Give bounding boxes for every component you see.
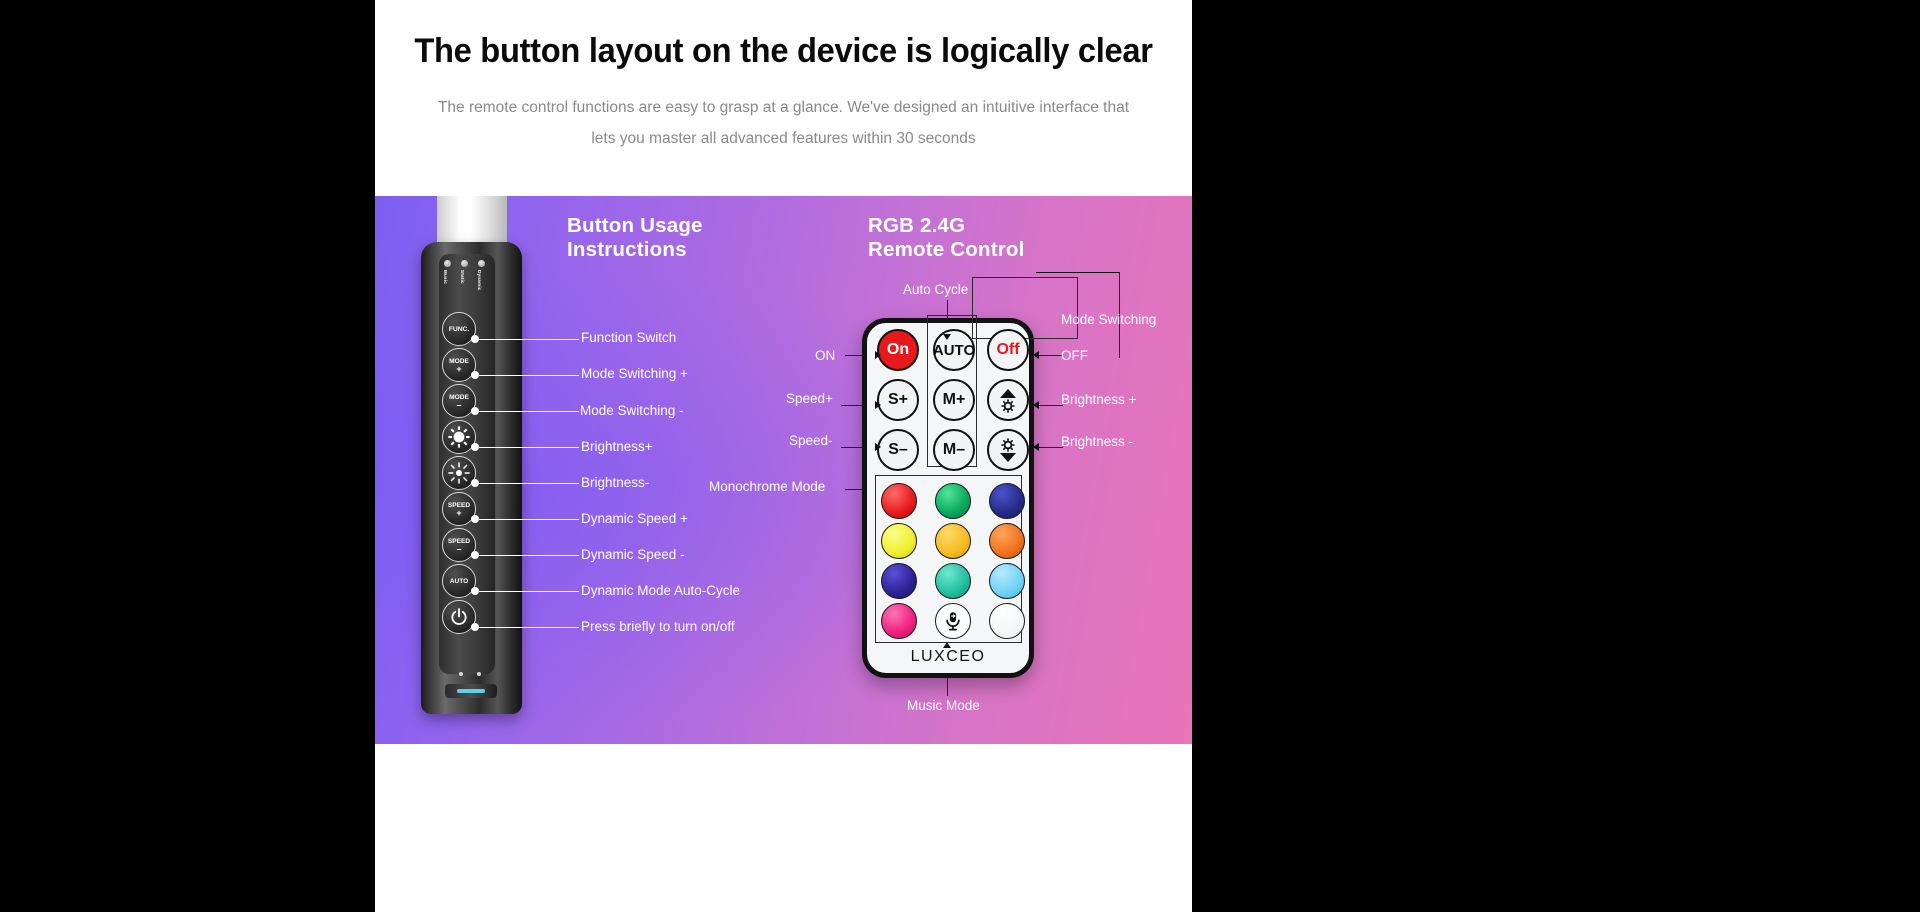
page-title: The button layout on the device is logic… xyxy=(391,32,1175,71)
callout-arrow-speed-up xyxy=(875,401,881,409)
page-subtitle: The remote control functions are easy to… xyxy=(435,92,1132,154)
brightness-down-icon xyxy=(993,435,1023,465)
color-button-red[interactable] xyxy=(881,483,917,519)
callout-label-mode-switching-remote: Mode Switching xyxy=(1061,312,1156,327)
callout-line-speed-up xyxy=(479,519,579,520)
color-button-cyan[interactable] xyxy=(989,563,1025,599)
right-heading-line2: Remote Control xyxy=(868,238,1025,262)
device-pin-left xyxy=(459,672,463,676)
color-button-blue[interactable] xyxy=(989,483,1025,519)
device-button-func-label: FUNC. xyxy=(449,326,469,333)
callout-line-mode-up xyxy=(479,375,579,376)
color-button-orange[interactable] xyxy=(989,523,1025,559)
color-button-yellow[interactable] xyxy=(881,523,917,559)
device-illustration: Music Static Dynamic FUNC. MODE + MODE – xyxy=(415,196,531,726)
callout-label-speed-down: Speed- xyxy=(789,433,833,448)
remote-face: On AUTO Off S+ M+ xyxy=(867,323,1029,673)
callout-label-dynamic-speed-up: Dynamic Speed + xyxy=(581,511,688,526)
color-button-indigo[interactable] xyxy=(881,563,917,599)
screenshot-root: The button layout on the device is logic… xyxy=(0,0,1920,912)
device-button-mode-up-sign: + xyxy=(456,365,461,373)
remote-button-on[interactable]: On xyxy=(877,329,919,371)
remote-button-speed-down[interactable]: S– xyxy=(877,429,919,471)
callout-line-brightness-down xyxy=(479,483,579,484)
callout-label-brightness-down-remote: Brightness - xyxy=(1061,434,1133,449)
callout-dot-mode-up xyxy=(471,371,479,379)
callout-line-power xyxy=(479,627,579,628)
callout-dot-speed-down xyxy=(471,551,479,559)
callout-line-mode-switching-top xyxy=(1036,272,1120,273)
callout-line-mode-down xyxy=(479,411,579,412)
gradient-panel: Button Usage Instructions RGB 2.4G Remot… xyxy=(375,196,1192,744)
callout-label-brightness-down: Brightness- xyxy=(581,475,649,490)
color-button-pink[interactable] xyxy=(881,603,917,639)
microphone-icon xyxy=(942,610,964,632)
led-label-dynamic: Dynamic xyxy=(477,270,482,291)
callout-dot-mode-down xyxy=(471,407,479,415)
color-button-teal[interactable] xyxy=(935,563,971,599)
remote-button-speed-up[interactable]: S+ xyxy=(877,379,919,421)
led-label-music: Music xyxy=(443,270,448,284)
callout-label-power: Press briefly to turn on/off xyxy=(581,619,735,634)
callout-label-brightness-up: Brightness+ xyxy=(581,439,653,454)
device-button-mode-down-sign: – xyxy=(456,401,461,409)
callout-arrow-brightness-up xyxy=(1033,401,1039,409)
callout-label-speed-up: Speed+ xyxy=(786,391,833,406)
callout-line-func xyxy=(479,339,579,340)
callout-arrow-off xyxy=(1033,351,1039,359)
left-panel-heading: Button Usage Instructions xyxy=(567,214,703,262)
callout-dot-auto xyxy=(471,587,479,595)
power-icon xyxy=(449,607,469,627)
left-heading-line1: Button Usage xyxy=(567,214,703,238)
callout-label-function-switch: Function Switch xyxy=(581,330,676,345)
callout-label-monochrome: Monochrome Mode xyxy=(709,479,825,494)
callout-line-brightness-up xyxy=(479,447,579,448)
callout-line-brightness-down xyxy=(1037,447,1063,448)
led-dynamic xyxy=(478,260,485,267)
device-pin-right xyxy=(477,672,481,676)
callout-arrow-brightness-down xyxy=(1033,443,1039,451)
device-usb-port xyxy=(445,684,497,698)
callout-dot-power xyxy=(471,623,479,631)
right-panel-heading: RGB 2.4G Remote Control xyxy=(868,214,1025,262)
callout-label-on: ON xyxy=(815,348,835,363)
device-button-auto-label: AUTO xyxy=(450,578,469,585)
callout-label-mode-switching-down: Mode Switching - xyxy=(580,403,684,418)
sun-thin-icon xyxy=(447,461,471,485)
brand-logo: LUXCEO xyxy=(867,648,1029,666)
remote-button-mode-down[interactable]: M– xyxy=(933,429,975,471)
color-button-amber[interactable] xyxy=(935,523,971,559)
brightness-up-icon xyxy=(993,385,1023,415)
color-button-green[interactable] xyxy=(935,483,971,519)
callout-line-off xyxy=(1037,355,1063,356)
callout-label-dynamic-speed-down: Dynamic Speed - xyxy=(581,547,685,562)
group-box-mode-switching xyxy=(972,277,1078,339)
led-static xyxy=(461,260,468,267)
callout-line-speed-down xyxy=(479,555,579,556)
callout-label-auto-cycle: Dynamic Mode Auto-Cycle xyxy=(581,583,740,598)
callout-dot-brightness-down xyxy=(471,479,479,487)
sun-full-icon xyxy=(447,425,471,449)
remote-button-music-mode[interactable] xyxy=(935,603,971,639)
callout-label-off: OFF xyxy=(1061,348,1088,363)
content-sheet: The button layout on the device is logic… xyxy=(375,0,1192,912)
callout-dot-func xyxy=(471,335,479,343)
callout-label-auto-cycle-remote: Auto Cycle xyxy=(903,282,968,297)
remote-button-brightness-down[interactable] xyxy=(987,429,1029,471)
device-button-speed-up-sign: + xyxy=(456,509,461,517)
callout-label-brightness-up-remote: Brightness + xyxy=(1061,392,1136,407)
color-button-white[interactable] xyxy=(989,603,1025,639)
callout-arrow-music-mode xyxy=(943,642,951,648)
footer-whitespace xyxy=(375,744,1192,912)
callout-dot-speed-up xyxy=(471,515,479,523)
callout-line-auto xyxy=(479,591,579,592)
remote-button-auto[interactable]: AUTO xyxy=(933,329,975,371)
callout-line-brightness-up xyxy=(1037,405,1063,406)
callout-label-music-mode: Music Mode xyxy=(907,698,980,713)
remote-button-brightness-up[interactable] xyxy=(987,379,1029,421)
callout-arrow-speed-down xyxy=(875,443,881,451)
led-music xyxy=(444,260,451,267)
remote-button-mode-up[interactable]: M+ xyxy=(933,379,975,421)
led-label-static: Static xyxy=(460,270,465,284)
left-heading-line2: Instructions xyxy=(567,238,703,262)
callout-label-mode-switching-up: Mode Switching + xyxy=(581,366,688,381)
remote-control: On AUTO Off S+ M+ xyxy=(862,318,1034,678)
device-led-indicators: Music Static Dynamic xyxy=(442,260,492,304)
callout-arrow-on xyxy=(875,351,881,359)
callout-arrow-auto-cycle xyxy=(943,334,951,340)
right-heading-line1: RGB 2.4G xyxy=(868,214,1025,238)
callout-dot-brightness-up xyxy=(471,443,479,451)
device-button-speed-down-sign: – xyxy=(456,545,461,553)
header-section: The button layout on the device is logic… xyxy=(375,0,1192,196)
remote-button-off[interactable]: Off xyxy=(987,329,1029,371)
